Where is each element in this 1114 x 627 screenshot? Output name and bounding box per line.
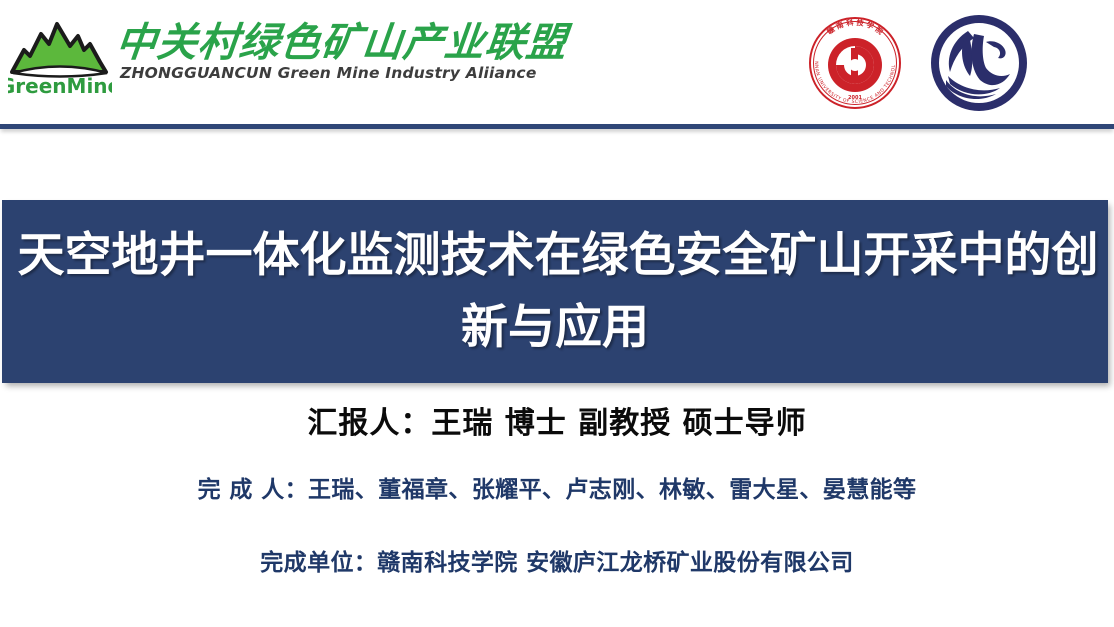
presenter-line: 汇报人：王瑞 博士 副教授 硕士导师 (0, 398, 1114, 442)
title-slide: GreenMine 中关村绿色矿山产业联盟 ZHONGGUANCUN Green… (0, 0, 1114, 627)
title-banner: 天空地井一体化监测技术在绿色安全矿山开采中的创 新与应用 (2, 200, 1108, 383)
gannan-university-seal-icon: 赣 南 科 技 学 院 GANNAN UNIVERSITY OF SCIENCE… (806, 14, 904, 112)
green-mountain-icon: GreenMine (8, 16, 112, 98)
greenmine-wordmark: GreenMine (8, 74, 112, 98)
title-line-1: 天空地井一体化监测技术在绿色安全矿山开采中的创 (18, 220, 1099, 292)
slide-header: GreenMine 中关村绿色矿山产业联盟 ZHONGGUANCUN Green… (0, 0, 1114, 126)
affiliation-line: 完成单位：赣南科技学院 安徽庐江龙桥矿业股份有限公司 (0, 543, 1114, 577)
title-line-2: 新与应用 (461, 292, 649, 364)
authors-line: 完 成 人：王瑞、董福章、张耀平、卢志刚、林敏、雷大星、晏慧能等 (0, 470, 1114, 504)
header-divider (0, 124, 1114, 129)
greenmine-logo: GreenMine (8, 16, 112, 98)
longqiao-mining-logo-icon (930, 14, 1028, 112)
alliance-name-en: ZHONGGUANCUN Green Mine Industry Aliianc… (120, 64, 540, 82)
alliance-name-cn: 中关村绿色矿山产业联盟 (113, 20, 498, 68)
svg-text:2001: 2001 (848, 95, 862, 101)
